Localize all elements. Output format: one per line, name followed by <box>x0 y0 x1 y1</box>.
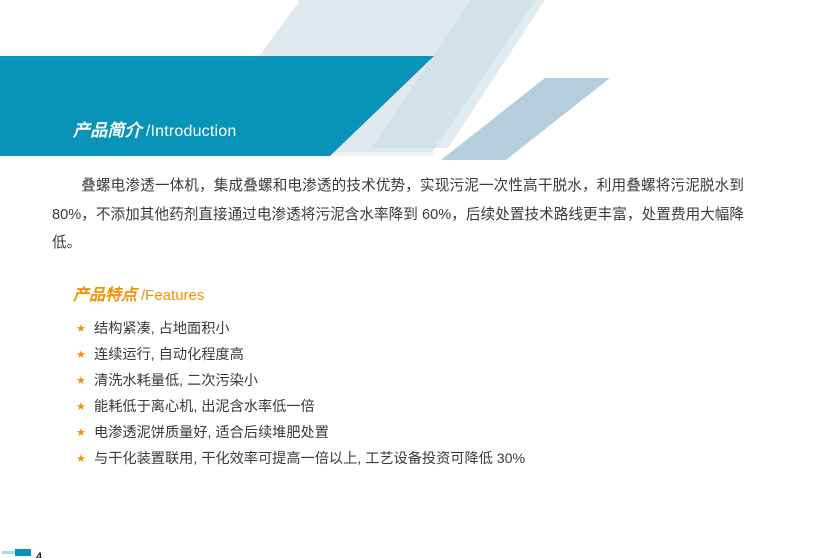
page-number: 4 <box>36 552 42 558</box>
feature-text: 与干化装置联用, 干化效率可提高一倍以上, 工艺设备投资可降低 30% <box>94 446 525 472</box>
feature-text: 连续运行, 自动化程度高 <box>94 342 244 368</box>
list-item: ★ 清洗水耗量低, 二次污染小 <box>76 368 776 394</box>
features-heading-en: /Features <box>141 287 204 304</box>
feature-text: 结构紧凑, 占地面积小 <box>94 316 230 342</box>
footer-bar-light-icon <box>2 551 15 554</box>
header-banner: 产品简介/Introduction <box>0 0 824 160</box>
star-icon: ★ <box>76 446 94 472</box>
list-item: ★ 能耗低于离心机, 出泥含水率低一倍 <box>76 394 776 420</box>
feature-text: 电渗透泥饼质量好, 适合后续堆肥处置 <box>94 420 329 446</box>
features-heading: 产品特点/Features <box>73 288 204 304</box>
features-heading-cn: 产品特点 <box>73 287 137 304</box>
star-icon: ★ <box>76 316 94 342</box>
list-item: ★ 连续运行, 自动化程度高 <box>76 342 776 368</box>
star-icon: ★ <box>76 394 94 420</box>
star-icon: ★ <box>76 368 94 394</box>
page-title-en: /Introduction <box>146 123 237 140</box>
page-title: 产品简介/Introduction <box>73 122 236 140</box>
features-list: ★ 结构紧凑, 占地面积小 ★ 连续运行, 自动化程度高 ★ 清洗水耗量低, 二… <box>76 316 776 472</box>
footer-bar-teal-icon <box>15 549 31 556</box>
star-icon: ★ <box>76 342 94 368</box>
feature-text: 清洗水耗量低, 二次污染小 <box>94 368 258 394</box>
feature-text: 能耗低于离心机, 出泥含水率低一倍 <box>94 394 315 420</box>
footer-decoration: 4 <box>0 544 120 558</box>
list-item: ★ 与干化装置联用, 干化效率可提高一倍以上, 工艺设备投资可降低 30% <box>76 446 776 472</box>
list-item: ★ 电渗透泥饼质量好, 适合后续堆肥处置 <box>76 420 776 446</box>
page-title-cn: 产品简介 <box>73 121 142 140</box>
list-item: ★ 结构紧凑, 占地面积小 <box>76 316 776 342</box>
introduction-paragraph: 叠螺电渗透一体机，集成叠螺和电渗透的技术优势，实现污泥一次性高干脱水，利用叠螺将… <box>52 172 744 258</box>
slide-page: 产品简介/Introduction 叠螺电渗透一体机，集成叠螺和电渗透的技术优势… <box>0 0 824 558</box>
star-icon: ★ <box>76 420 94 446</box>
